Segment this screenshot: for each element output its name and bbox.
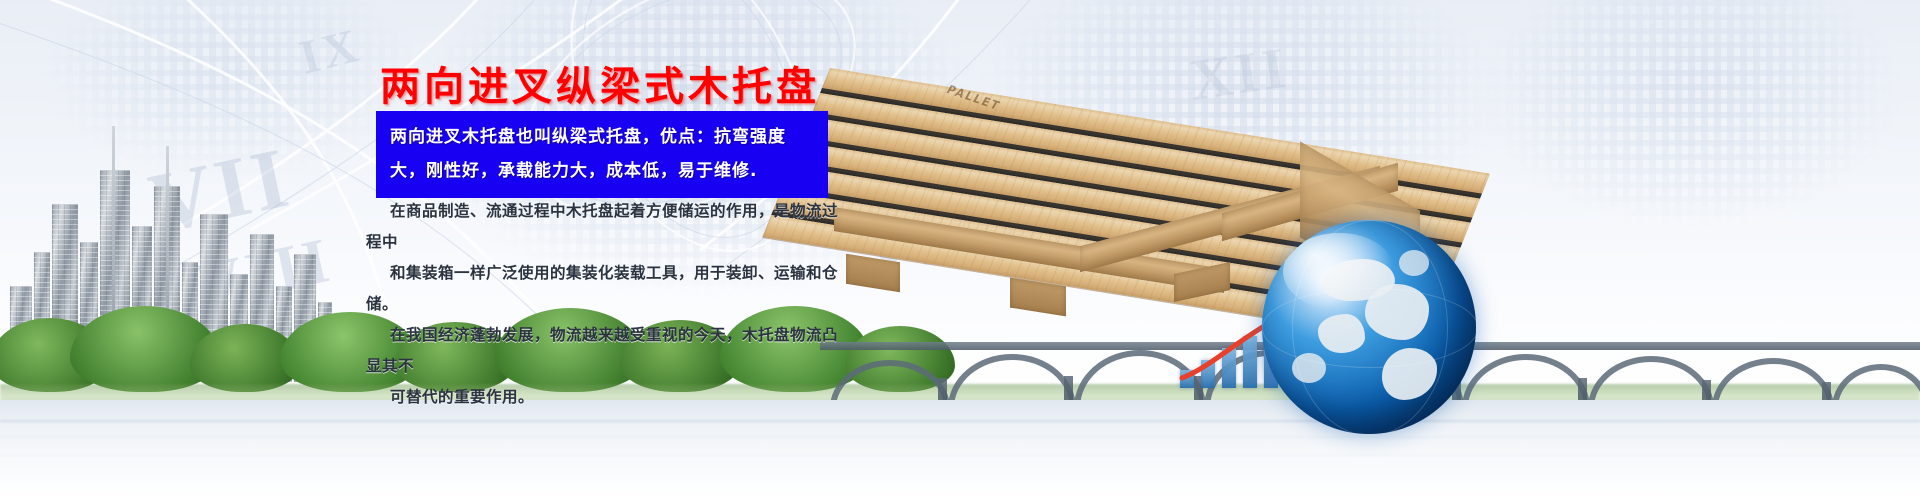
description-line-3: 在我国经济蓬勃发展，物流越来越受重视的今天，木托盘物流凸显其不 — [366, 320, 846, 382]
banner-title: 两向进叉纵梁式木托盘 — [380, 54, 820, 112]
earth-globe-illustration — [1262, 220, 1476, 434]
description-line-4: 可替代的重要作用。 — [366, 382, 846, 413]
water-band — [0, 400, 1920, 500]
roman-numeral-decor-1: IX — [294, 17, 367, 85]
description-line-2: 和集装箱一样广泛使用的集装化装载工具，用于装卸、运输和仓储。 — [366, 258, 846, 320]
highlight-line-2: 大，刚性好，承载能力大，成本低，易于维修. — [390, 154, 816, 188]
highlight-line-1: 两向进叉木托盘也叫纵梁式托盘，优点：抗弯强度 — [390, 120, 816, 154]
pixel-grid-decor-far-right — [1480, 0, 1900, 230]
promo-banner: IX VII VIII VIII XII — [0, 0, 1920, 500]
highlight-callout-box: 两向进叉木托盘也叫纵梁式托盘，优点：抗弯强度 大，刚性好，承载能力大，成本低，易… — [376, 111, 828, 198]
banner-description: 在商品制造、流通过程中木托盘起着方便储运的作用，是物流过程中 和集装箱一样广泛使… — [366, 196, 846, 413]
description-line-1: 在商品制造、流通过程中木托盘起着方便储运的作用，是物流过程中 — [366, 196, 846, 258]
